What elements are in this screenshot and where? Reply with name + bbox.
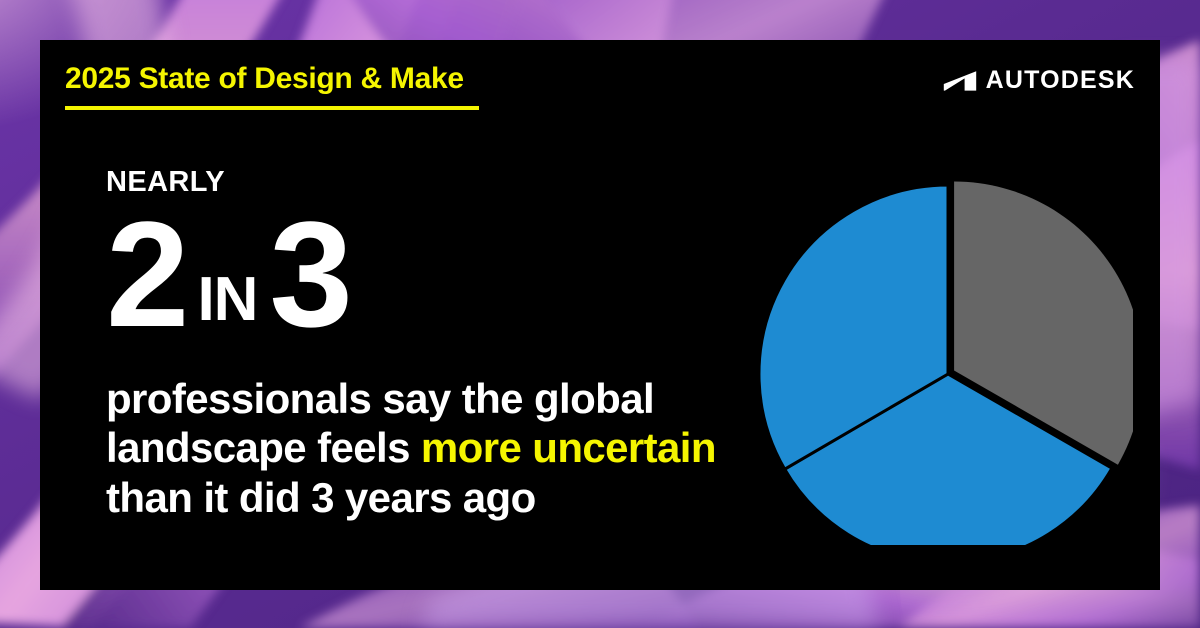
content-card: 2025 State of Design & Make AUTODESK NEA… <box>40 40 1160 590</box>
stat-kicker: NEARLY <box>106 168 726 197</box>
autodesk-logo: AUTODESK <box>943 68 1135 93</box>
big-stat: 2 IN 3 <box>106 203 726 346</box>
title-underline <box>65 106 479 110</box>
autodesk-wordmark: AUTODESK <box>986 68 1135 93</box>
body-highlight: more uncertain <box>421 424 716 471</box>
stat-connector: IN <box>185 271 269 330</box>
autodesk-arrow-mark <box>943 70 977 92</box>
stat-denominator: 3 <box>269 203 348 346</box>
stat-numerator: 2 <box>106 203 185 346</box>
body-line-1: professionals say the global <box>106 374 726 424</box>
pie-chart <box>723 135 1133 545</box>
stat-column: NEARLY 2 IN 3 professionals say the glob… <box>106 168 726 522</box>
page-title: 2025 State of Design & Make <box>65 62 464 96</box>
body-line-2: landscape feels more uncertain <box>106 423 726 473</box>
body-line-3: than it did 3 years ago <box>106 473 726 523</box>
infographic-canvas: 2025 State of Design & Make AUTODESK NEA… <box>0 0 1200 628</box>
body-copy: professionals say the global landscape f… <box>106 374 726 523</box>
body-line-2-prefix: landscape feels <box>106 424 421 471</box>
card-header: 2025 State of Design & Make AUTODESK <box>65 52 1135 122</box>
